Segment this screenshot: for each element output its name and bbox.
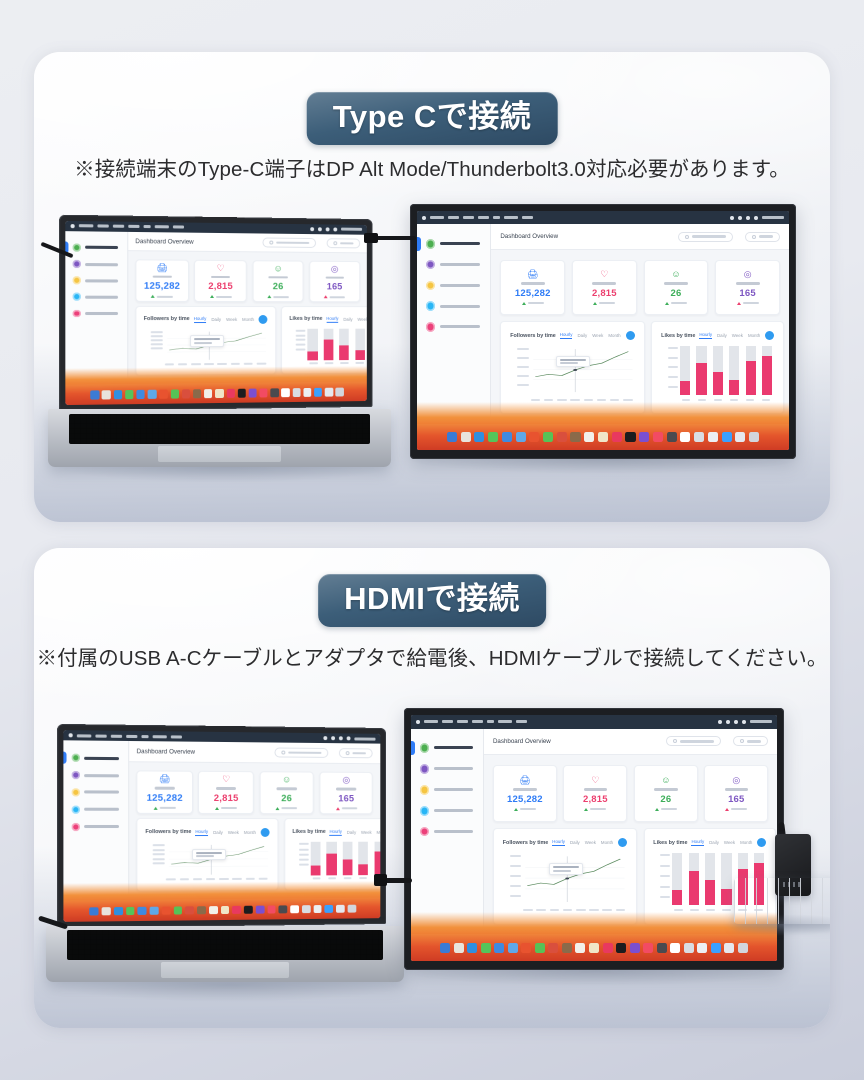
dock-icon-12[interactable] <box>589 943 599 953</box>
dock-icon-1[interactable] <box>90 907 99 916</box>
dock-icon-13[interactable] <box>612 432 622 442</box>
dock-icon-15[interactable] <box>630 943 640 953</box>
today-filter-button[interactable] <box>339 748 373 758</box>
sidebar-item-engagement[interactable] <box>411 785 483 795</box>
kpi-delta <box>737 302 759 305</box>
tooltip-line-1 <box>194 338 220 340</box>
chart-tabs: HourlyDailyWeekMonth <box>194 315 268 324</box>
dock-icon-18[interactable] <box>290 905 298 914</box>
mac-dock <box>65 382 366 405</box>
sidebar-item-label <box>440 325 480 328</box>
dock-icon-16[interactable] <box>260 389 268 397</box>
sidebar-item-posts[interactable] <box>63 823 127 831</box>
dock-icon-13[interactable] <box>232 906 241 915</box>
search-dashboard-button[interactable] <box>666 736 721 746</box>
kpi-card-comments: ☺26 <box>634 765 698 823</box>
sidebar-item-label <box>85 263 118 266</box>
dock-icon-2[interactable] <box>102 391 111 400</box>
dock-icon-22[interactable] <box>724 943 734 953</box>
y-tick-label <box>296 348 306 350</box>
dock-icon-10[interactable] <box>197 906 206 915</box>
chart-tab-week[interactable]: Week <box>226 317 237 322</box>
menubar-item-help[interactable] <box>171 735 182 738</box>
dock-icon-12[interactable] <box>598 432 608 442</box>
menubar-item-edit[interactable] <box>111 734 122 737</box>
today-filter-button[interactable] <box>326 238 360 248</box>
dock-icon-6[interactable] <box>516 432 526 442</box>
x-tick-label <box>245 878 254 880</box>
camera-icon: ◎ <box>732 776 740 785</box>
y-tick-label <box>668 347 679 349</box>
delta-label <box>671 302 687 304</box>
chart-tab-week[interactable]: Week <box>592 333 603 338</box>
dock-icon-13[interactable] <box>603 943 613 953</box>
delta-label <box>520 808 536 810</box>
dock-icon-3[interactable] <box>114 907 123 916</box>
x-tick-label <box>257 363 266 365</box>
menubar-item-finder[interactable] <box>79 225 94 228</box>
posts-icon <box>73 309 81 317</box>
chart-options-button[interactable] <box>765 331 774 340</box>
chart-tab-hourly[interactable]: Hourly <box>326 316 338 323</box>
chart-tabs: HourlyDailyWeekMonth <box>330 828 381 837</box>
product-info-page: Dashboard Overview🖨125,282♡2,815☺26◎165F… <box>0 0 864 1080</box>
dock-icon-23[interactable] <box>738 943 748 953</box>
dock-icon-11[interactable] <box>209 906 218 915</box>
dock-icon-6[interactable] <box>150 906 159 915</box>
control-center-icon[interactable] <box>339 736 343 740</box>
dock-icon-17[interactable] <box>279 905 288 914</box>
comment-icon: ☺ <box>274 264 283 273</box>
dock-icon-19[interactable] <box>292 388 300 396</box>
kpi-label <box>269 276 288 279</box>
chart-tab-hourly[interactable]: Hourly <box>194 316 207 323</box>
engagement-icon <box>71 788 80 796</box>
chart-tab-hourly[interactable]: Hourly <box>691 839 704 846</box>
chart-header: Likes by timeHourlyDailyWeekMonth <box>653 838 766 847</box>
dock-icon-16[interactable] <box>653 432 663 442</box>
apple-menu-icon[interactable] <box>422 216 426 220</box>
dock-icon-6[interactable] <box>508 943 518 953</box>
search-dashboard-button[interactable] <box>678 232 733 242</box>
bar-track <box>721 853 731 905</box>
dock-icon-5[interactable] <box>138 907 147 916</box>
x-tick-label <box>544 399 554 401</box>
delta-label <box>221 807 237 809</box>
dashboard-icon <box>71 754 80 762</box>
mac-menubar <box>411 715 777 729</box>
dock-icon-8[interactable] <box>543 432 553 442</box>
portable-monitor-type-c: Dashboard Overview🖨125,282♡2,815☺26◎165F… <box>410 204 796 459</box>
x-tick-label <box>309 362 317 364</box>
dock-icon-16[interactable] <box>643 943 653 953</box>
dock-icon-21[interactable] <box>722 432 732 442</box>
x-tick-label <box>356 362 364 364</box>
menubar-item-go[interactable] <box>143 225 151 228</box>
y-tick-label <box>296 330 306 332</box>
dock-icon-3[interactable] <box>114 390 122 398</box>
dock-icon-19[interactable] <box>684 943 694 953</box>
sidebar-item-audience[interactable] <box>65 260 126 268</box>
menubar-item-view[interactable] <box>478 216 489 219</box>
dock-icon-19[interactable] <box>694 432 704 442</box>
y-tick-label <box>510 855 522 857</box>
chart-options-button[interactable] <box>618 838 627 847</box>
sidebar-item-label <box>85 295 118 298</box>
dock-icon-5[interactable] <box>494 943 504 953</box>
bar-value <box>358 865 368 876</box>
dock-icon-17[interactable] <box>657 943 667 953</box>
bar-track <box>713 346 723 395</box>
y-tick-label <box>660 854 671 856</box>
chart-tab-month[interactable]: Month <box>242 317 254 322</box>
apple-menu-icon[interactable] <box>71 224 75 228</box>
sidebar-item-label <box>440 242 480 245</box>
sidebar-item-label <box>85 312 118 315</box>
sidebar-item-audience[interactable] <box>63 771 127 780</box>
dock-icon-5[interactable] <box>502 432 512 442</box>
sidebar-item-dashboard[interactable] <box>63 754 127 763</box>
sidebar-item-optimization[interactable] <box>411 806 483 816</box>
chart-options-button[interactable] <box>757 838 766 847</box>
dock-icon-18[interactable] <box>282 389 290 397</box>
chart-tab-hourly[interactable]: Hourly <box>699 332 712 339</box>
menubar-item-window[interactable] <box>504 216 518 219</box>
battery-icon[interactable] <box>754 216 758 220</box>
sidebar-item-optimization[interactable] <box>63 805 127 814</box>
heart-icon: ♡ <box>217 264 225 273</box>
chart-tab-hourly[interactable]: Hourly <box>560 332 573 339</box>
sidebar-item-dashboard[interactable] <box>65 243 126 252</box>
dock-icon-11[interactable] <box>204 389 212 397</box>
x-tick-label <box>191 363 201 365</box>
sidebar-item-posts[interactable] <box>417 322 490 332</box>
sidebar-item-optimization[interactable] <box>65 293 126 301</box>
dock-icon-2[interactable] <box>461 432 471 442</box>
dock-icon-7[interactable] <box>529 432 539 442</box>
kpi-card-likes: ♡2,815 <box>563 765 627 823</box>
y-tick-label <box>153 849 165 851</box>
menubar-item-finder[interactable] <box>77 734 92 737</box>
chart-tab-week[interactable]: Week <box>228 830 239 835</box>
menubar-item-go[interactable] <box>141 735 149 738</box>
dock-icon-3[interactable] <box>474 432 484 442</box>
y-tick-label <box>668 376 679 378</box>
sidebar-item-dashboard[interactable] <box>411 743 483 753</box>
chart-header: Followers by timeHourlyDailyWeekMonth <box>510 331 634 340</box>
dock-icon-1[interactable] <box>440 943 450 953</box>
dock-icon-22[interactable] <box>325 388 333 396</box>
delta-arrow-icon <box>324 295 328 298</box>
search-icon[interactable] <box>726 720 730 724</box>
dock-icon-4[interactable] <box>481 943 491 953</box>
chart-tab-month[interactable]: Month <box>740 840 752 845</box>
bar-track <box>324 329 334 361</box>
laptop-trackpad <box>158 446 282 462</box>
dock-icon-8[interactable] <box>174 906 183 915</box>
dock-icon-7[interactable] <box>162 906 171 915</box>
chart-tabs: HourlyDailyWeekMonth <box>560 331 635 340</box>
dock-icon-10[interactable] <box>193 390 201 398</box>
apple-menu-icon[interactable] <box>69 733 73 737</box>
dock-icon-4[interactable] <box>125 390 133 398</box>
dock-icon-7[interactable] <box>159 390 167 398</box>
delta-arrow-icon <box>336 807 340 810</box>
chart-options-button[interactable] <box>626 331 635 340</box>
dock-icon-7[interactable] <box>521 943 531 953</box>
dock-icon-11[interactable] <box>575 943 585 953</box>
dock-icon-12[interactable] <box>215 389 223 397</box>
delta-label <box>743 302 759 304</box>
dock-icon-22[interactable] <box>735 432 745 442</box>
dock-icon-10[interactable] <box>570 432 580 442</box>
dock-icon-9[interactable] <box>185 906 194 915</box>
chart-tab-daily[interactable]: Daily <box>347 830 356 835</box>
section-badge-hdmi: HDMIで接続 <box>318 574 546 627</box>
chart-tab-month[interactable]: Month <box>748 333 760 338</box>
dock-icon-12[interactable] <box>221 906 230 915</box>
laptop-screen-hdmi: Dashboard Overview🖨125,282♡2,815☺26◎165F… <box>63 730 380 922</box>
dock-icon-14[interactable] <box>625 432 635 442</box>
dashboard-content: Dashboard Overview🖨125,282♡2,815☺26◎165F… <box>491 224 789 424</box>
dashboard-board: 🖨125,282♡2,815☺26◎165Followers by timeHo… <box>491 250 789 424</box>
dock-icon-8[interactable] <box>535 943 545 953</box>
wifi-icon[interactable] <box>323 736 327 740</box>
bar-track <box>762 346 772 395</box>
dock-icon-21[interactable] <box>314 388 322 396</box>
search-icon[interactable] <box>738 216 742 220</box>
chart-card-likes: Likes by timeHourlyDailyWeekMonth <box>284 818 380 890</box>
search-icon[interactable] <box>318 227 322 231</box>
menubar-item-edit[interactable] <box>457 720 468 723</box>
battery-icon[interactable] <box>333 227 337 231</box>
dock-icon-23[interactable] <box>348 904 356 913</box>
menubar-item-view[interactable] <box>472 720 483 723</box>
kpi-delta <box>267 295 288 298</box>
menubar-item-finder[interactable] <box>430 216 444 219</box>
control-center-icon[interactable] <box>734 720 738 724</box>
dock-icon-4[interactable] <box>126 907 135 916</box>
dock-icon-2[interactable] <box>102 907 111 916</box>
sidebar-item-engagement[interactable] <box>63 788 127 797</box>
kpi-label <box>277 788 297 791</box>
dock-icon-18[interactable] <box>670 943 680 953</box>
chart-tab-daily[interactable]: Daily <box>717 333 727 338</box>
dock-icon-20[interactable] <box>697 943 707 953</box>
line-chart-svg <box>529 345 635 396</box>
sidebar-item-audience[interactable] <box>411 764 483 774</box>
plot-body <box>678 345 774 404</box>
dock-icon-15[interactable] <box>639 432 649 442</box>
chart-tab-hourly[interactable]: Hourly <box>330 829 342 836</box>
dock-icon-15[interactable] <box>256 905 265 914</box>
dock-icon-9[interactable] <box>557 432 567 442</box>
apple-menu-icon[interactable] <box>416 720 420 724</box>
charts-row: Followers by timeHourlyDailyWeekMonthLik… <box>500 321 780 415</box>
dock-icon-1[interactable] <box>91 391 100 400</box>
menubar-item-window[interactable] <box>498 720 512 723</box>
menubar-item-window[interactable] <box>155 226 169 229</box>
y-tick-label <box>153 853 165 855</box>
battery-icon[interactable] <box>347 737 351 741</box>
chart-tab-daily[interactable]: Daily <box>343 316 352 321</box>
dashboard-sidebar <box>411 729 484 934</box>
menubar-item-go[interactable] <box>493 216 500 219</box>
kpi-card-likes: ♡2,815 <box>198 771 253 815</box>
kpi-row: 🖨125,282♡2,815☺26◎165 <box>137 770 373 814</box>
menubar-item-edit[interactable] <box>113 225 124 228</box>
chart-options-button[interactable] <box>259 315 268 324</box>
menubar-item-help[interactable] <box>516 720 527 723</box>
chart-header: Followers by timeHourlyDailyWeekMonth <box>145 828 269 837</box>
bar-track <box>374 842 380 876</box>
chart-tab-hourly[interactable]: Hourly <box>195 829 208 836</box>
chart-card-followers: Followers by timeHourlyDailyWeekMonth <box>493 828 637 925</box>
menubar-spacer <box>186 737 320 738</box>
chart-tab-daily[interactable]: Daily <box>709 840 719 845</box>
menubar-item-finder[interactable] <box>424 720 438 723</box>
plot-body <box>529 345 635 403</box>
y-tick-label <box>153 844 165 846</box>
chart-tab-daily[interactable]: Daily <box>213 830 223 835</box>
dock-icon-19[interactable] <box>302 905 310 914</box>
wifi-icon[interactable] <box>730 216 734 220</box>
chart-tab-week[interactable]: Week <box>357 316 366 321</box>
menubar-item-help[interactable] <box>173 226 184 229</box>
dock-icon-23[interactable] <box>749 432 759 442</box>
dock-icon-13[interactable] <box>227 389 235 397</box>
dock-icon-4[interactable] <box>488 432 498 442</box>
control-center-icon[interactable] <box>326 227 330 231</box>
dock-icon-3[interactable] <box>467 943 477 953</box>
dock-icon-10[interactable] <box>562 943 572 953</box>
menubar-item-file[interactable] <box>448 216 459 219</box>
x-tick-label <box>325 362 333 364</box>
dock-icon-6[interactable] <box>148 390 156 398</box>
dock-icon-20[interactable] <box>303 388 311 396</box>
battery-icon[interactable] <box>742 720 746 724</box>
chart-tab-hourly[interactable]: Hourly <box>552 839 565 846</box>
y-tick-label <box>299 864 309 866</box>
menubar-item-file[interactable] <box>442 720 453 723</box>
dock-icon-2[interactable] <box>454 943 464 953</box>
kpi-label <box>725 788 749 791</box>
dock-icon-21[interactable] <box>325 905 333 914</box>
kpi-delta <box>215 807 237 810</box>
heart-icon: ♡ <box>600 270 608 279</box>
sidebar-item-engagement[interactable] <box>65 276 126 284</box>
dock-icon-20[interactable] <box>313 905 321 914</box>
sidebar-item-optimization[interactable] <box>417 301 490 311</box>
posts-icon <box>426 322 436 332</box>
dock-icon-5[interactable] <box>136 390 144 398</box>
dock-icon-9[interactable] <box>548 943 558 953</box>
sidebar-item-label <box>84 825 119 828</box>
dock-icon-20[interactable] <box>708 432 718 442</box>
wifi-icon[interactable] <box>718 720 722 724</box>
button-label <box>747 740 761 743</box>
menubar-item-file[interactable] <box>98 225 109 228</box>
bar-track <box>689 853 699 905</box>
dock-icon-18[interactable] <box>680 432 690 442</box>
optimization-icon <box>426 301 436 311</box>
delta-label <box>157 296 173 298</box>
chart-tab-month[interactable]: Month <box>608 333 620 338</box>
chart-tab-daily[interactable]: Daily <box>570 840 580 845</box>
dock-icon-11[interactable] <box>584 432 594 442</box>
portable-monitor-hdmi: Dashboard Overview🖨125,282♡2,815☺26◎165F… <box>404 708 784 970</box>
menubar-item-go[interactable] <box>487 720 494 723</box>
search-dashboard-button[interactable] <box>262 238 316 248</box>
menubar-item-view[interactable] <box>126 735 137 738</box>
chart-tab-week[interactable]: Week <box>585 840 596 845</box>
bar-value <box>374 852 380 876</box>
chart-tab-week[interactable]: Week <box>361 830 372 835</box>
dock-icon-strip <box>83 901 362 920</box>
chart-tab-month[interactable]: Month <box>376 830 380 835</box>
y-axis <box>144 329 163 367</box>
button-label <box>288 751 321 754</box>
search-dashboard-button[interactable] <box>275 748 329 758</box>
dock-icon-14[interactable] <box>244 905 253 914</box>
line-chart-svg <box>521 852 627 906</box>
chart-tab-daily[interactable]: Daily <box>577 333 587 338</box>
search-icon[interactable] <box>331 736 335 740</box>
chart-tab-week[interactable]: Week <box>724 840 735 845</box>
sidebar-item-engagement[interactable] <box>417 281 490 291</box>
sidebar-item-posts[interactable] <box>411 827 483 837</box>
chart-tab-week[interactable]: Week <box>732 333 743 338</box>
y-axis <box>289 328 305 366</box>
sidebar-item-dashboard[interactable] <box>417 239 490 249</box>
dock-icon-21[interactable] <box>711 943 721 953</box>
dock-icon-22[interactable] <box>336 905 344 914</box>
today-filter-button[interactable] <box>745 232 780 242</box>
dock-icon-8[interactable] <box>171 390 179 398</box>
chart-tab-daily[interactable]: Daily <box>211 317 221 322</box>
dock-icon-17[interactable] <box>271 389 279 397</box>
wifi-icon[interactable] <box>310 227 314 231</box>
chart-tab-month[interactable]: Month <box>601 840 613 845</box>
menubar-item-view[interactable] <box>128 225 139 228</box>
bar-track <box>729 346 739 395</box>
page-title: Dashboard Overview <box>493 738 551 745</box>
button-label <box>340 242 353 245</box>
menubar-item-window[interactable] <box>153 735 167 738</box>
dock-icon-14[interactable] <box>238 389 246 397</box>
dock-icon-16[interactable] <box>267 905 276 914</box>
dock-icon-14[interactable] <box>616 943 626 953</box>
dock-icon-9[interactable] <box>182 390 190 398</box>
menubar-item-help[interactable] <box>522 216 533 219</box>
chart-tab-month[interactable]: Month <box>244 830 256 835</box>
sidebar-item-posts[interactable] <box>65 309 126 317</box>
today-filter-button[interactable] <box>733 736 768 746</box>
control-center-icon[interactable] <box>746 216 750 220</box>
dock-icon-17[interactable] <box>667 432 677 442</box>
dock-icon-23[interactable] <box>336 388 344 396</box>
dock-icon-15[interactable] <box>249 389 257 397</box>
y-tick-label <box>510 865 522 867</box>
chart-options-button[interactable] <box>261 828 270 837</box>
kpi-row: 🖨125,282♡2,815☺26◎165 <box>500 260 780 316</box>
menubar-item-file[interactable] <box>96 734 107 737</box>
bar-value <box>746 361 756 395</box>
kpi-delta <box>522 302 544 305</box>
dock-icon-1[interactable] <box>447 432 457 442</box>
menubar-item-edit[interactable] <box>463 216 474 219</box>
sidebar-item-audience[interactable] <box>417 260 490 270</box>
